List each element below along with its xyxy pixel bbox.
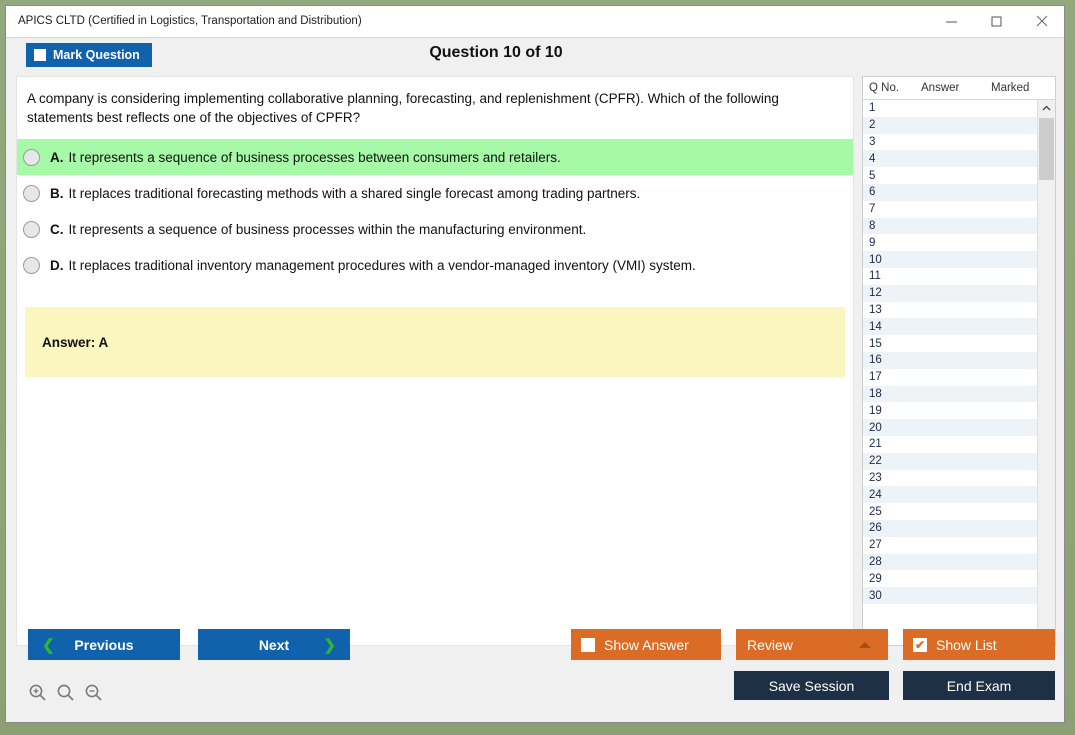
radio-button-icon[interactable] (23, 221, 40, 238)
row-question-number: 19 (869, 405, 917, 417)
question-list-row[interactable]: 24 (863, 486, 1037, 503)
radio-button-icon[interactable] (23, 149, 40, 166)
show-list-button[interactable]: ✔ Show List (903, 629, 1055, 660)
mark-question-button[interactable]: Mark Question (26, 43, 152, 67)
row-question-number: 4 (869, 153, 917, 165)
row-question-number: 30 (869, 590, 917, 602)
row-question-number: 10 (869, 254, 917, 266)
radio-button-icon[interactable] (23, 257, 40, 274)
desktop-background: APICS CLTD (Certified in Logistics, Tran… (0, 0, 1075, 735)
question-list-row[interactable]: 19 (863, 402, 1037, 419)
save-session-button[interactable]: Save Session (734, 671, 889, 700)
end-exam-button[interactable]: End Exam (903, 671, 1055, 700)
row-question-number: 24 (869, 489, 917, 501)
page-title: Question 10 of 10 (6, 44, 1064, 62)
end-exam-label: End Exam (947, 678, 1012, 694)
row-question-number: 25 (869, 506, 917, 518)
option-letter: C. (50, 222, 64, 237)
question-list-body: 1234567891011121314151617181920212223242… (863, 100, 1055, 645)
row-question-number: 13 (869, 304, 917, 316)
review-dropdown[interactable]: Review (736, 629, 888, 660)
question-list-row[interactable]: 13 (863, 302, 1037, 319)
row-question-number: 2 (869, 119, 917, 131)
zoom-out-icon[interactable] (84, 683, 103, 702)
row-question-number: 5 (869, 170, 917, 182)
window-title: APICS CLTD (Certified in Logistics, Tran… (6, 15, 929, 27)
maximize-icon[interactable] (974, 6, 1019, 36)
row-question-number: 21 (869, 438, 917, 450)
row-question-number: 16 (869, 354, 917, 366)
row-question-number: 6 (869, 186, 917, 198)
question-list-row[interactable]: 26 (863, 520, 1037, 537)
question-list-row[interactable]: 9 (863, 234, 1037, 251)
option-letter: B. (50, 186, 64, 201)
question-list-row[interactable]: 11 (863, 268, 1037, 285)
column-header-answer: Answer (921, 82, 991, 94)
show-answer-label: Show Answer (604, 637, 689, 653)
question-list-row[interactable]: 23 (863, 470, 1037, 487)
question-list-row[interactable]: 21 (863, 436, 1037, 453)
save-session-label: Save Session (769, 678, 855, 694)
zoom-controls (28, 683, 103, 702)
question-list-rows: 1234567891011121314151617181920212223242… (863, 100, 1037, 645)
close-icon[interactable] (1019, 6, 1064, 36)
show-answer-checkbox-icon[interactable] (581, 638, 595, 652)
question-text: A company is considering implementing co… (17, 77, 853, 127)
answer-option-a[interactable]: A.It represents a sequence of business p… (17, 139, 853, 175)
answer-reveal-box: Answer: A (25, 307, 845, 377)
row-question-number: 20 (869, 422, 917, 434)
answer-options: A.It represents a sequence of business p… (17, 139, 853, 283)
row-question-number: 3 (869, 136, 917, 148)
show-list-checkbox-icon[interactable]: ✔ (913, 638, 927, 652)
question-list-row[interactable]: 3 (863, 134, 1037, 151)
option-text: It replaces traditional forecasting meth… (69, 186, 641, 201)
question-list-row[interactable]: 28 (863, 554, 1037, 571)
row-question-number: 29 (869, 573, 917, 585)
question-list-row[interactable]: 17 (863, 369, 1037, 386)
option-text: It represents a sequence of business pro… (69, 222, 587, 237)
next-label: Next (259, 637, 289, 653)
mark-question-checkbox-icon[interactable] (34, 49, 46, 61)
previous-button[interactable]: ❮ Previous (28, 629, 180, 660)
question-list-row[interactable]: 16 (863, 352, 1037, 369)
answer-option-c[interactable]: C.It represents a sequence of business p… (17, 211, 853, 247)
mark-question-label: Mark Question (53, 48, 140, 62)
question-list-row[interactable]: 18 (863, 386, 1037, 403)
chevron-left-icon: ❮ (42, 636, 55, 654)
scroll-up-icon[interactable] (1038, 100, 1055, 117)
row-question-number: 12 (869, 287, 917, 299)
previous-label: Previous (74, 637, 133, 653)
question-list-row[interactable]: 27 (863, 537, 1037, 554)
minimize-icon[interactable] (929, 6, 974, 36)
question-panel: A company is considering implementing co… (16, 76, 854, 646)
question-list-row[interactable]: 14 (863, 318, 1037, 335)
row-question-number: 26 (869, 522, 917, 534)
review-label: Review (747, 637, 793, 653)
question-header-bar: Mark Question Question 10 of 10 (6, 38, 1064, 76)
column-header-marked: Marked (991, 82, 1051, 94)
row-question-number: 17 (869, 371, 917, 383)
question-list-row[interactable]: 25 (863, 503, 1037, 520)
row-question-number: 11 (869, 270, 917, 282)
row-question-number: 23 (869, 472, 917, 484)
scrollbar-thumb[interactable] (1039, 118, 1054, 180)
row-question-number: 28 (869, 556, 917, 568)
zoom-in-icon[interactable] (28, 683, 47, 702)
option-text: It replaces traditional inventory manage… (69, 258, 696, 273)
row-question-number: 8 (869, 220, 917, 232)
question-list-scrollbar[interactable] (1037, 100, 1055, 645)
show-answer-button[interactable]: Show Answer (571, 629, 721, 660)
answer-text: Answer: A (42, 335, 108, 350)
question-list-header: Q No. Answer Marked (863, 77, 1055, 100)
question-list-row[interactable]: 10 (863, 251, 1037, 268)
option-text: It represents a sequence of business pro… (69, 150, 561, 165)
answer-option-b[interactable]: B.It replaces traditional forecasting me… (17, 175, 853, 211)
question-list-panel: Q No. Answer Marked 12345678910111213141… (862, 76, 1056, 646)
question-list-row[interactable]: 5 (863, 167, 1037, 184)
question-list-row[interactable]: 1 (863, 100, 1037, 117)
row-question-number: 14 (869, 321, 917, 333)
window-titlebar: APICS CLTD (Certified in Logistics, Tran… (6, 6, 1064, 37)
question-list-row[interactable]: 30 (863, 587, 1037, 604)
row-question-number: 9 (869, 237, 917, 249)
question-list-row[interactable]: 29 (863, 570, 1037, 587)
column-header-qno: Q No. (869, 82, 921, 94)
row-question-number: 1 (869, 102, 917, 114)
option-letter: A. (50, 150, 64, 165)
radio-button-icon[interactable] (23, 185, 40, 202)
row-question-number: 15 (869, 338, 917, 350)
question-list-row[interactable]: 15 (863, 335, 1037, 352)
question-list-row[interactable]: 4 (863, 150, 1037, 167)
question-list-row[interactable]: 8 (863, 218, 1037, 235)
show-list-label: Show List (936, 637, 997, 653)
exam-window: APICS CLTD (Certified in Logistics, Tran… (5, 5, 1065, 723)
window-controls (929, 6, 1064, 36)
zoom-reset-icon[interactable] (56, 683, 75, 702)
chevron-right-icon: ❯ (323, 636, 336, 654)
question-list-row[interactable]: 12 (863, 285, 1037, 302)
option-letter: D. (50, 258, 64, 273)
question-list-row[interactable]: 6 (863, 184, 1037, 201)
question-list-row[interactable]: 22 (863, 453, 1037, 470)
answer-option-d[interactable]: D.It replaces traditional inventory mana… (17, 247, 853, 283)
question-counter: Question 10 of 10 (429, 44, 562, 61)
question-list-row[interactable]: 20 (863, 419, 1037, 436)
row-question-number: 27 (869, 539, 917, 551)
row-question-number: 22 (869, 455, 917, 467)
row-question-number: 18 (869, 388, 917, 400)
footer-toolbar: ❮ Previous Next ❯ Show Answer Review ✔ (6, 612, 1064, 722)
question-list-row[interactable]: 2 (863, 117, 1037, 134)
row-question-number: 7 (869, 203, 917, 215)
next-button[interactable]: Next ❯ (198, 629, 350, 660)
chevron-up-icon (859, 642, 871, 648)
window-client-area: Mark Question Question 10 of 10 A compan… (6, 37, 1064, 722)
question-list-row[interactable]: 7 (863, 201, 1037, 218)
